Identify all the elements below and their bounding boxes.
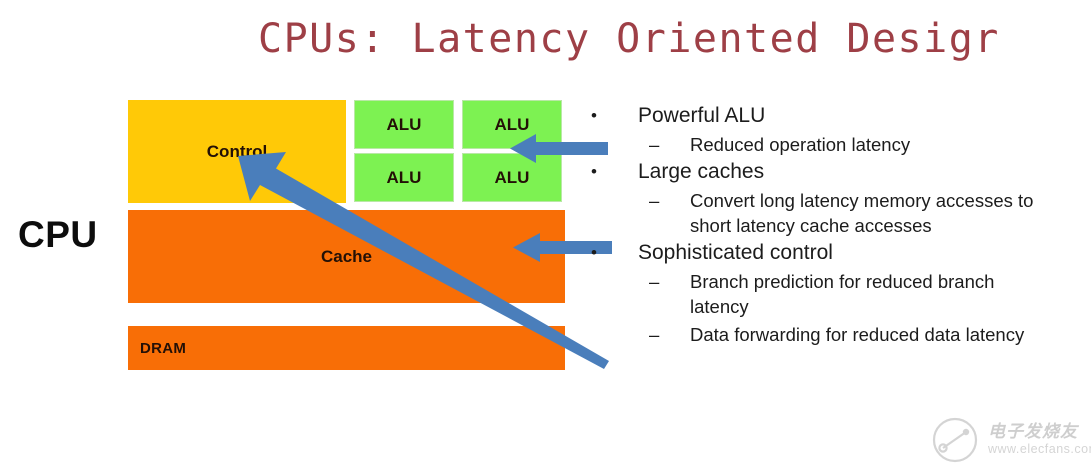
dash-marker-icon: – xyxy=(649,269,659,294)
bullet-item-label: Large caches xyxy=(638,160,764,183)
dram-block: DRAM xyxy=(128,326,565,370)
watermark: 电子发烧友 www.elecfans.com xyxy=(928,415,1088,471)
dash-marker-icon: – xyxy=(649,188,659,213)
bullet-marker-icon: • xyxy=(591,159,597,185)
bullet-item-label: Powerful ALU xyxy=(638,104,765,127)
alu-block-label: ALU xyxy=(495,115,530,135)
dram-block-label: DRAM xyxy=(140,340,186,357)
control-block: Control xyxy=(128,100,346,203)
sub-bullet-label: Branch prediction for reduced branch lat… xyxy=(690,271,994,317)
bullet-item-large-caches: • Large caches xyxy=(586,159,1056,185)
bullet-item-powerful-alu: • Powerful ALU xyxy=(586,103,1056,129)
bullet-item-sophisticated-control: • Sophisticated control xyxy=(586,240,1056,266)
sub-bullet-item: – Data forwarding for reduced data laten… xyxy=(586,322,1056,347)
alu-block-label: ALU xyxy=(495,168,530,188)
alu-block: ALU xyxy=(354,153,454,202)
cpu-label: CPU xyxy=(18,214,98,256)
bullet-list: • Powerful ALU – Reduced operation laten… xyxy=(586,103,1056,349)
alu-block-label: ALU xyxy=(387,168,422,188)
dash-marker-icon: – xyxy=(649,322,659,347)
cache-block: Cache xyxy=(128,210,565,303)
cache-block-label: Cache xyxy=(321,247,372,267)
sub-bullet-label: Convert long latency memory accesses to … xyxy=(690,190,1033,236)
control-block-label: Control xyxy=(207,142,267,162)
watermark-url-text: www.elecfans.com xyxy=(988,442,1091,456)
sub-bullet-label: Data forwarding for reduced data latency xyxy=(690,324,1024,345)
bullet-marker-icon: • xyxy=(591,103,597,129)
sub-bullet-label: Reduced operation latency xyxy=(690,134,910,155)
alu-block: ALU xyxy=(462,153,562,202)
sub-bullet-item: – Reduced operation latency xyxy=(586,132,1056,157)
page-title: CPUs: Latency Oriented Desigr xyxy=(258,17,1000,61)
sub-bullet-item: – Convert long latency memory accesses t… xyxy=(586,188,1056,238)
slide-canvas: CPUs: Latency Oriented Desigr CPU Contro… xyxy=(0,0,1091,474)
bullet-marker-icon: • xyxy=(591,240,597,266)
watermark-cn-text: 电子发烧友 xyxy=(988,417,1078,442)
bullet-item-label: Sophisticated control xyxy=(638,241,833,264)
alu-block: ALU xyxy=(462,100,562,149)
dash-marker-icon: – xyxy=(649,132,659,157)
alu-block: ALU xyxy=(354,100,454,149)
watermark-logo-icon xyxy=(928,415,984,465)
sub-bullet-item: – Branch prediction for reduced branch l… xyxy=(586,269,1056,319)
alu-block-label: ALU xyxy=(387,115,422,135)
